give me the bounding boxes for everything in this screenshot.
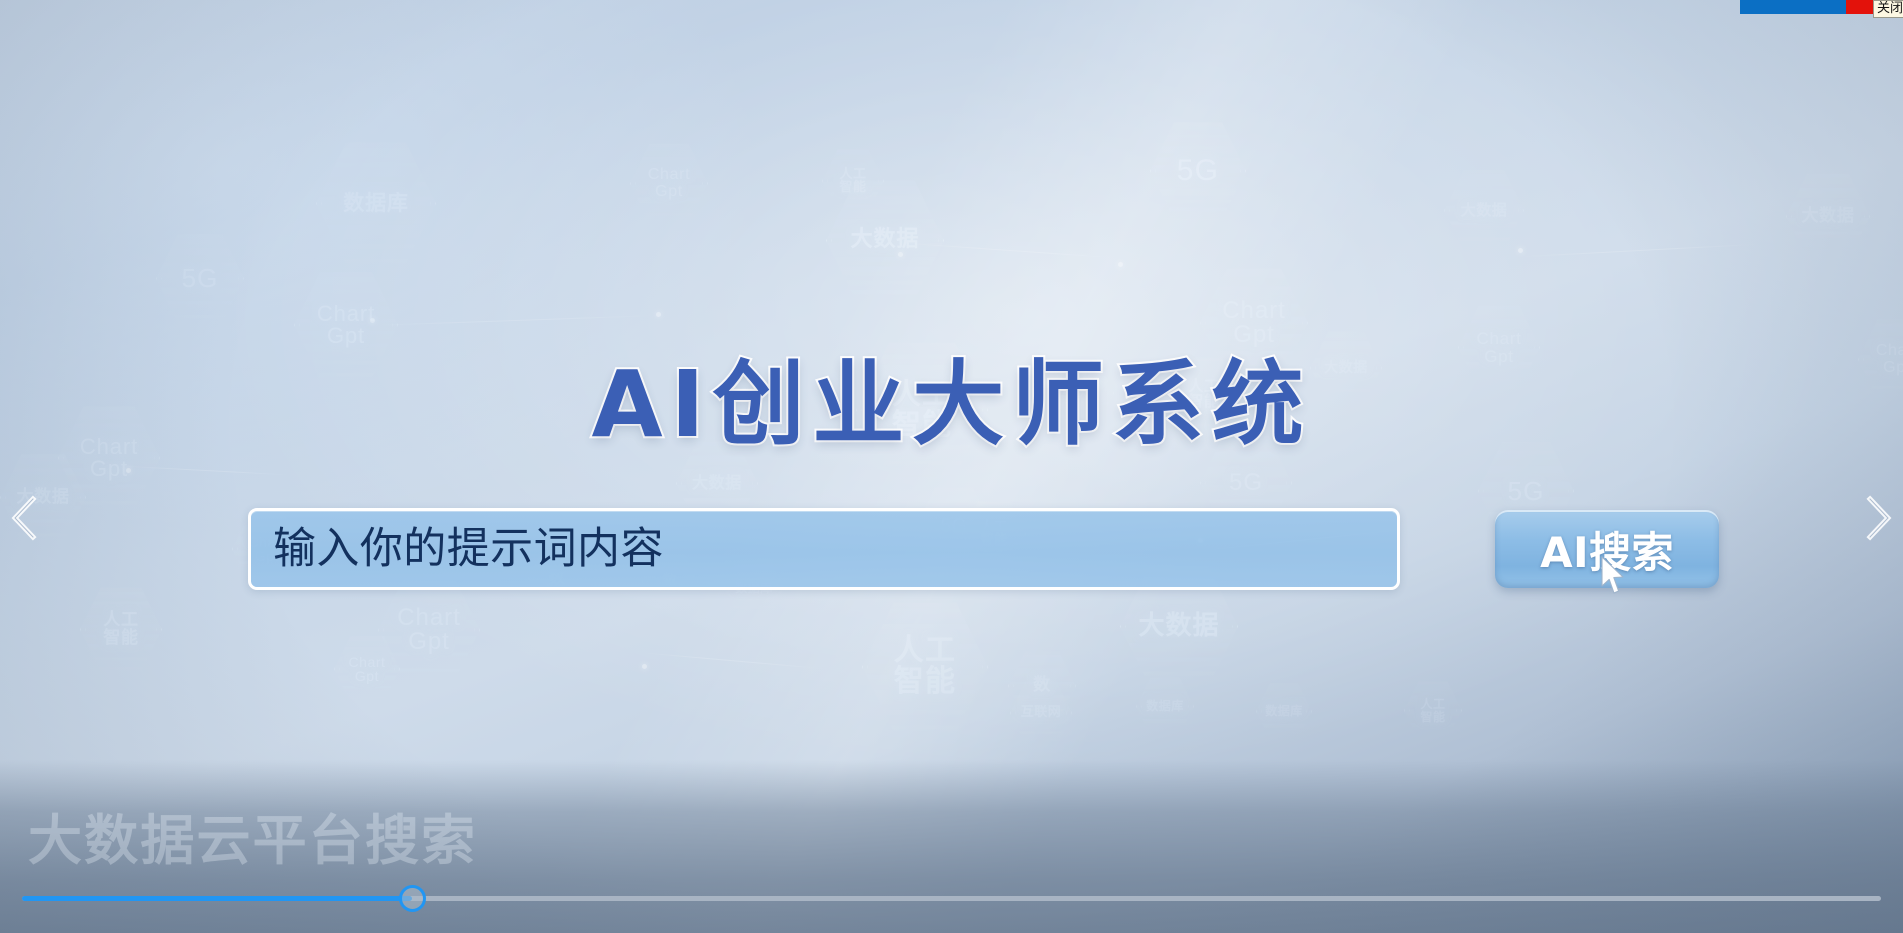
chevron-right-icon[interactable] bbox=[1855, 487, 1901, 549]
close-tooltip: 关闭 bbox=[1873, 0, 1903, 18]
ai-search-button[interactable]: AI搜索 bbox=[1495, 510, 1719, 588]
search-input[interactable] bbox=[248, 508, 1400, 590]
search-row: AI搜索 bbox=[0, 508, 1903, 592]
window-titlebar-strip bbox=[1740, 0, 1846, 14]
chevron-left-icon[interactable] bbox=[2, 487, 48, 549]
app-screen: 数据库5G5G大数据大数据Chart GptChart GptChart Gpt… bbox=[0, 0, 1903, 933]
slider-thumb[interactable] bbox=[399, 885, 426, 912]
close-button[interactable] bbox=[1846, 0, 1874, 14]
page-title: AI创业大师系统 bbox=[0, 330, 1903, 463]
slider-fill bbox=[22, 896, 412, 901]
bottom-slider[interactable] bbox=[0, 859, 1903, 933]
background-gradient bbox=[0, 0, 1903, 933]
